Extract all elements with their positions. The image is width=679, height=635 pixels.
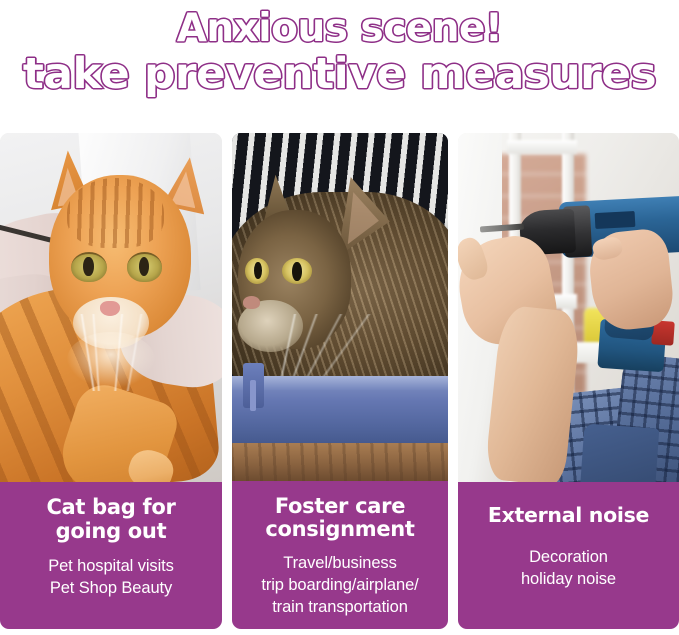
cat-whiskers — [22, 314, 204, 391]
ladder-rung-top — [507, 140, 578, 154]
photo-vet-holding-orange-cat — [0, 133, 222, 482]
page-title-line-2: take preventive measures — [0, 48, 679, 96]
card-foster-care-consignment: Foster care consignment Travel/business … — [232, 133, 448, 629]
cat-pupil-left — [83, 257, 93, 277]
caption-title-3: External noise — [466, 504, 671, 527]
photo-cat-in-carrier — [232, 133, 448, 481]
caption-sub-1: Pet hospital visits Pet Shop Beauty — [8, 556, 214, 600]
card-cat-bag-for-going-out: Cat bag for going out Pet hospital visit… — [0, 133, 222, 629]
caption-panel-2: Foster care consignment Travel/business … — [232, 481, 448, 629]
blue-carrier-rim — [232, 376, 448, 390]
caption-panel-3: External noise Decoration holiday noise — [458, 482, 679, 629]
drill-label — [595, 210, 636, 228]
longhair-cat-nose — [243, 296, 260, 309]
longhair-cat-pupil-left — [254, 262, 261, 279]
wooden-floor — [232, 443, 448, 481]
cards-row: Cat bag for going out Pet hospital visit… — [0, 133, 679, 629]
caption-panel-1: Cat bag for going out Pet hospital visit… — [0, 482, 222, 629]
caption-title-2: Foster care consignment — [240, 495, 440, 542]
carrier-latch-pin — [250, 380, 256, 411]
page-title-line-1: Anxious scene! — [0, 0, 679, 48]
caption-sub-3: Decoration holiday noise — [466, 547, 671, 591]
page-title: Anxious scene! take preventive measures — [0, 0, 679, 118]
overall-strap — [579, 424, 659, 482]
photo-person-using-drill — [458, 133, 679, 482]
caption-title-1: Cat bag for going out — [8, 496, 214, 543]
card-external-noise: External noise Decoration holiday noise — [458, 133, 679, 629]
cat-forehead-stripes — [67, 178, 165, 248]
caption-sub-2: Travel/business trip boarding/airplane/ … — [240, 553, 440, 619]
